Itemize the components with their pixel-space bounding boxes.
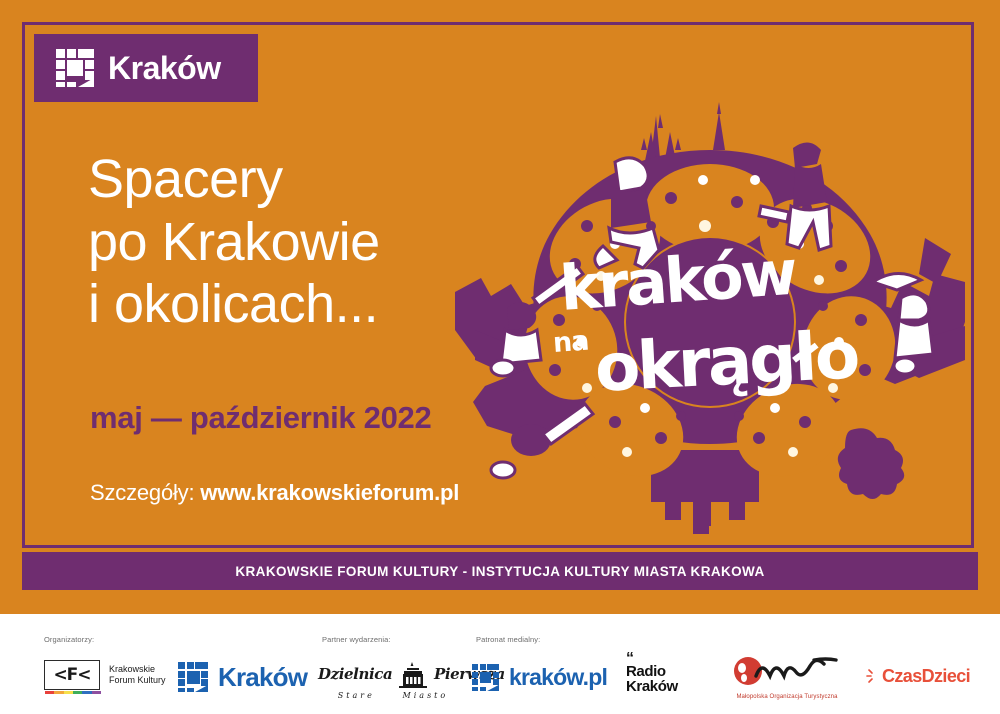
institution-band: KRAKOWSKIE FORUM KULTURY - INSTYTUCJA KU… [22,552,978,590]
kfk-color-stripe [45,691,101,695]
footer-label-patronat: Patronat medialny: [476,635,540,644]
logo-radio-krakow[interactable]: “ Radio Kraków [626,654,678,695]
logo-krakow-pl[interactable]: kraków.pl [472,664,607,691]
czasdzieci-wordmark: CzasDzieci [882,666,970,686]
dzielnica-crest-icon [397,662,429,688]
radio-line-1: Radio [626,664,678,680]
dzielnica-sub-left: Stare [338,691,375,700]
headline-line-3: i okolicach... [88,273,488,336]
kfk-wordmark: Krakowskie Forum Kultury [109,664,166,687]
logo-mot[interactable]: Małopolska Organizacja Turystyczna [726,656,848,700]
page-title: Spacery po Krakowie i okolicach... [88,148,488,336]
sun-rays-icon [866,667,882,685]
details-url[interactable]: www.krakowskieforum.pl [200,480,459,505]
krakow-grid-logo-icon [178,662,208,692]
institution-band-label: KRAKOWSKIE FORUM KULTURY - INSTYTUCJA KU… [235,564,764,579]
krakow-grid-logo-icon [472,664,499,691]
radio-line-2: Kraków [626,679,678,695]
dzielnica-word-left: Dzielnica [318,665,392,683]
krakow-brand-badge: Kraków [34,34,258,102]
logo-krakow[interactable]: Kraków [178,662,307,692]
kfk-line-1: Krakowskie [109,664,166,675]
footer-label-organizatorzy: Organizatorzy: [44,635,94,644]
logo-dzielnica-pierwsza[interactable]: Dzielnica Pierwsza Stare [318,662,468,700]
logo-czasdzieci[interactable]: CzasDzieci [866,666,970,687]
kfk-line-2: Forum Kultury [109,675,166,686]
dzielnica-sub-right: Miasto [403,691,449,700]
krakow-brand-label: Kraków [108,52,221,84]
kfk-mark-icon: <F< [44,660,100,690]
headline-line-1: Spacery [88,148,488,211]
mot-subtitle: Małopolska Organizacja Turystyczna [726,694,848,700]
details-line: Szczegóły: www.krakowskieforum.pl [90,480,459,506]
footer-partners: Organizatorzy: <F< Krakowskie Forum Kult… [0,614,1000,714]
krakow-grid-logo-icon [56,49,94,87]
obwarzanek-illustration: kraków na okrągło [455,30,965,542]
mot-mark-icon [726,656,848,688]
krakow-pl-wordmark: kraków.pl [509,666,607,689]
logo-kfk[interactable]: <F< Krakowskie Forum Kultury [44,660,166,690]
footer-label-partner: Partner wydarzenia: [322,635,391,644]
event-dateline: maj — październik 2022 [90,400,431,436]
details-prefix: Szczegóły: [90,480,200,505]
kfk-letters: <F< [53,667,90,684]
poster: kraków na okrągło Kraków Spacery po Krak… [0,0,1000,614]
headline-line-2: po Krakowie [88,211,488,274]
krakow-wordmark: Kraków [218,664,307,690]
